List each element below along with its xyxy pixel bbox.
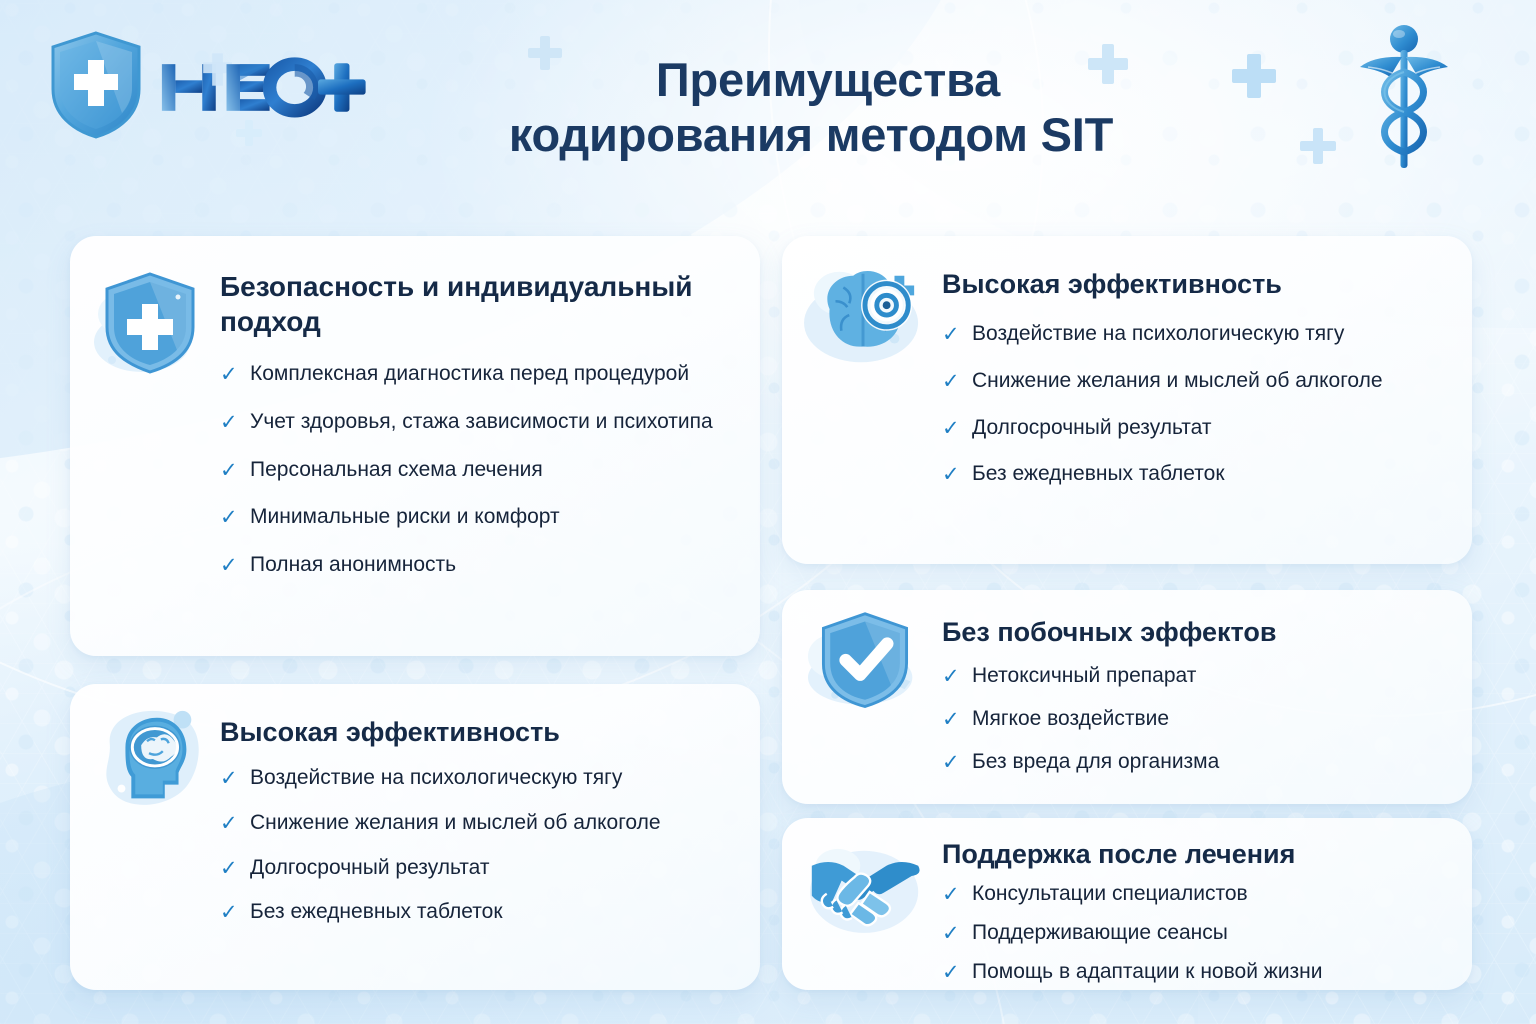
list-item: ✓Персональная схема лечения (220, 457, 734, 484)
list-item: ✓Помощь в адаптации к новой жизни (942, 959, 1452, 986)
card-effectiveness-right-feature-list: ✓Воздействие на психологическую тягу ✓Сн… (942, 321, 1450, 488)
card-safety-content: Безопасность и индивидуальный подход ✓Ко… (220, 236, 760, 656)
check-icon: ✓ (942, 664, 960, 691)
shield-cross-icon (90, 264, 210, 394)
list-item: ✓Поддерживающие сеансы (942, 920, 1452, 947)
card-support-feature-list: ✓Консультации специалистов ✓Поддерживающ… (942, 881, 1452, 985)
list-item-label: Учет здоровья, стажа зависимости и психо… (250, 410, 713, 433)
page-header: Преимущества кодирования методом SIT (0, 0, 1536, 215)
list-item-label: Снижение желания и мыслей об алкоголе (250, 811, 661, 834)
page-title: Преимущества кодирования методом SIT (0, 52, 1536, 163)
check-icon: ✓ (942, 416, 960, 443)
brain-target-icon (800, 258, 928, 381)
card-side-effects: Без побочных эффектов ✓Нетоксичный препа… (782, 590, 1472, 804)
check-icon: ✓ (942, 369, 960, 396)
caduceus-icon (1354, 22, 1454, 177)
list-item: ✓Комплексная диагностика перед процедуро… (220, 361, 734, 388)
check-icon: ✓ (220, 362, 238, 389)
list-item-label: Мягкое воздействие (972, 707, 1169, 730)
list-item-label: Долгосрочный результат (250, 856, 490, 879)
check-icon: ✓ (942, 960, 960, 987)
card-support-icon-column (782, 818, 942, 990)
card-title: Высокая эффективность (220, 716, 734, 749)
list-item-label: Комплексная диагностика перед процедурой (250, 362, 689, 385)
check-icon: ✓ (220, 811, 238, 838)
card-title: Высокая эффективность (942, 268, 1450, 301)
page-title-line-1: Преимущества (0, 52, 1536, 107)
card-effectiveness-left-feature-list: ✓Воздействие на психологическую тягу ✓Сн… (220, 765, 734, 926)
list-item: ✓Воздействие на психологическую тягу (220, 765, 734, 792)
list-item: ✓Минимальные риски и комфорт (220, 504, 734, 531)
card-effectiveness-left-icon-column (70, 684, 220, 990)
list-item-label: Без вреда для организма (972, 750, 1219, 773)
check-icon: ✓ (942, 750, 960, 777)
list-item: ✓Без ежедневных таблеток (220, 899, 734, 926)
list-item: ✓Нетоксичный препарат (942, 663, 1450, 690)
card-effectiveness-left-content: Высокая эффективность ✓Воздействие на пс… (220, 684, 760, 990)
card-effectiveness-right-content: Высокая эффективность ✓Воздействие на пс… (942, 236, 1472, 564)
check-icon: ✓ (220, 900, 238, 927)
head-brain-icon (92, 702, 210, 825)
list-item-label: Воздействие на психологическую тягу (972, 322, 1344, 345)
shield-check-icon (802, 606, 928, 727)
list-item-label: Без ежедневных таблеток (972, 462, 1225, 485)
check-icon: ✓ (942, 882, 960, 909)
list-item-label: Без ежедневных таблеток (250, 900, 503, 923)
card-effectiveness-left: Высокая эффективность ✓Воздействие на пс… (70, 684, 760, 990)
card-safety-feature-list: ✓Комплексная диагностика перед процедуро… (220, 361, 734, 578)
list-item: ✓Полная анонимность (220, 552, 734, 579)
list-item: ✓Без ежедневных таблеток (942, 461, 1450, 488)
card-title: Безопасность и индивидуальный подход (220, 270, 734, 339)
list-item: ✓Без вреда для организма (942, 749, 1450, 776)
card-support-content: Поддержка после лечения ✓Консультации сп… (942, 818, 1472, 990)
list-item-label: Воздействие на психологическую тягу (250, 766, 622, 789)
list-item: ✓Воздействие на психологическую тягу (942, 321, 1450, 348)
list-item: ✓Мягкое воздействие (942, 706, 1450, 733)
list-item-label: Поддерживающие сеансы (972, 921, 1228, 944)
list-item-label: Снижение желания и мыслей об алкоголе (972, 369, 1383, 392)
check-icon: ✓ (220, 856, 238, 883)
card-effectiveness-right: Высокая эффективность ✓Воздействие на пс… (782, 236, 1472, 564)
card-effectiveness-right-icon-column (782, 236, 942, 564)
list-item-label: Помощь в адаптации к новой жизни (972, 960, 1323, 983)
page-title-line-2: кодирования методом SIT (0, 107, 1536, 162)
card-safety: Безопасность и индивидуальный подход ✓Ко… (70, 236, 760, 656)
check-icon: ✓ (220, 410, 238, 437)
list-item: ✓Снижение желания и мыслей об алкоголе (220, 810, 734, 837)
list-item-label: Полная анонимность (250, 553, 456, 576)
card-side-effects-icon-column (782, 590, 942, 804)
list-item: ✓Долгосрочный результат (942, 415, 1450, 442)
list-item: ✓Учет здоровья, стажа зависимости и псих… (220, 409, 734, 436)
handshake-icon (804, 834, 926, 951)
list-item: ✓Снижение желания и мыслей об алкоголе (942, 368, 1450, 395)
card-support: Поддержка после лечения ✓Консультации сп… (782, 818, 1472, 990)
check-icon: ✓ (220, 553, 238, 580)
check-icon: ✓ (942, 707, 960, 734)
card-safety-icon-column (70, 236, 220, 656)
card-side-effects-content: Без побочных эффектов ✓Нетоксичный препа… (942, 590, 1472, 804)
card-title: Без побочных эффектов (942, 616, 1450, 649)
list-item-label: Нетоксичный препарат (972, 664, 1196, 687)
list-item-label: Минимальные риски и комфорт (250, 505, 560, 528)
list-item-label: Персональная схема лечения (250, 458, 543, 481)
check-icon: ✓ (942, 921, 960, 948)
card-title: Поддержка после лечения (942, 838, 1452, 871)
card-side-effects-feature-list: ✓Нетоксичный препарат ✓Мягкое воздействи… (942, 663, 1450, 775)
list-item: ✓Консультации специалистов (942, 881, 1452, 908)
list-item: ✓Долгосрочный результат (220, 855, 734, 882)
check-icon: ✓ (942, 322, 960, 349)
list-item-label: Долгосрочный результат (972, 416, 1212, 439)
list-item-label: Консультации специалистов (972, 882, 1248, 905)
check-icon: ✓ (942, 462, 960, 489)
check-icon: ✓ (220, 766, 238, 793)
check-icon: ✓ (220, 505, 238, 532)
check-icon: ✓ (220, 458, 238, 485)
